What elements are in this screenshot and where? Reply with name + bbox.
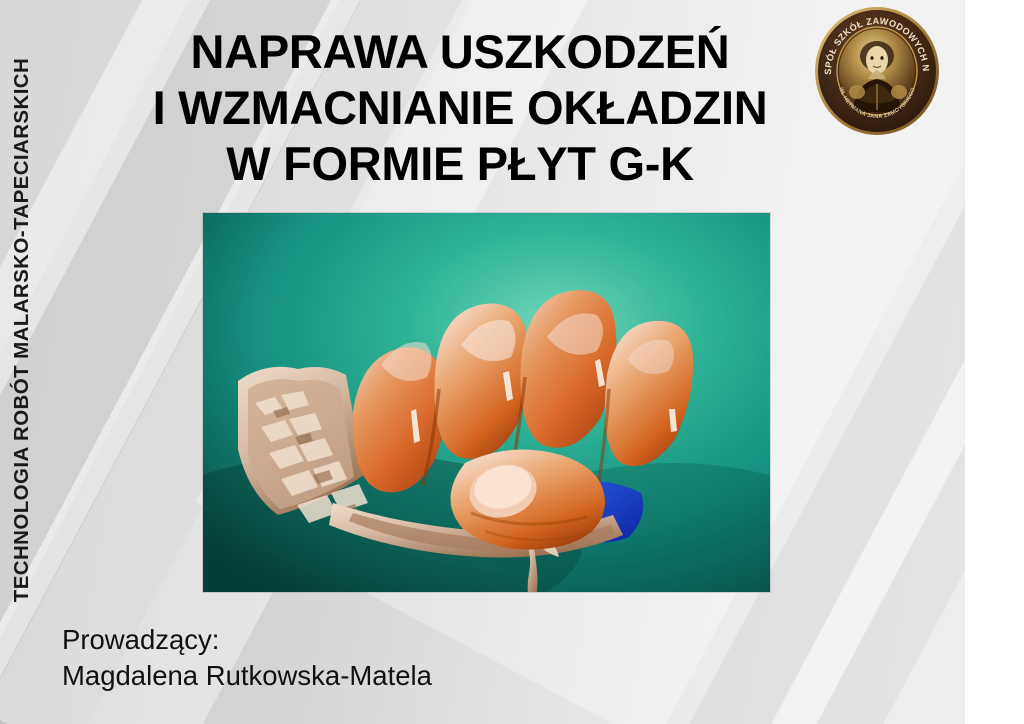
sidebar-course-label: TECHNOLOGIA ROBÓT MALARSKO-TAPECIARSKICH (0, 0, 44, 660)
presenter-block: Prowadzący: Magdalena Rutkowska-Matela (62, 622, 432, 694)
fist-through-drywall-photo (203, 213, 770, 592)
school-seal-icon: ZESPÓŁ SZKÓŁ ZAWODOWYCH NR 2 IM. HETMANA… (813, 4, 941, 136)
page-right-margin (965, 0, 1024, 724)
presenter-label: Prowadzący: (62, 622, 432, 658)
school-seal-logo: ZESPÓŁ SZKÓŁ ZAWODOWYCH NR 2 IM. HETMANA… (813, 4, 941, 136)
presenter-name: Magdalena Rutkowska-Matela (62, 658, 432, 694)
presentation-slide: TECHNOLOGIA ROBÓT MALARSKO-TAPECIARSKICH… (0, 0, 965, 724)
photo-artwork (203, 213, 770, 592)
page-title-line-2: I WZMACNIANIE OKŁADZIN (120, 80, 800, 136)
page-title: NAPRAWA USZKODZEŃ I WZMACNIANIE OKŁADZIN… (120, 24, 800, 192)
page-title-line-1: NAPRAWA USZKODZEŃ (120, 24, 800, 80)
page-title-line-3: W FORMIE PŁYT G-K (120, 136, 800, 192)
sidebar-course-label-text: TECHNOLOGIA ROBÓT MALARSKO-TAPECIARSKICH (10, 58, 34, 602)
